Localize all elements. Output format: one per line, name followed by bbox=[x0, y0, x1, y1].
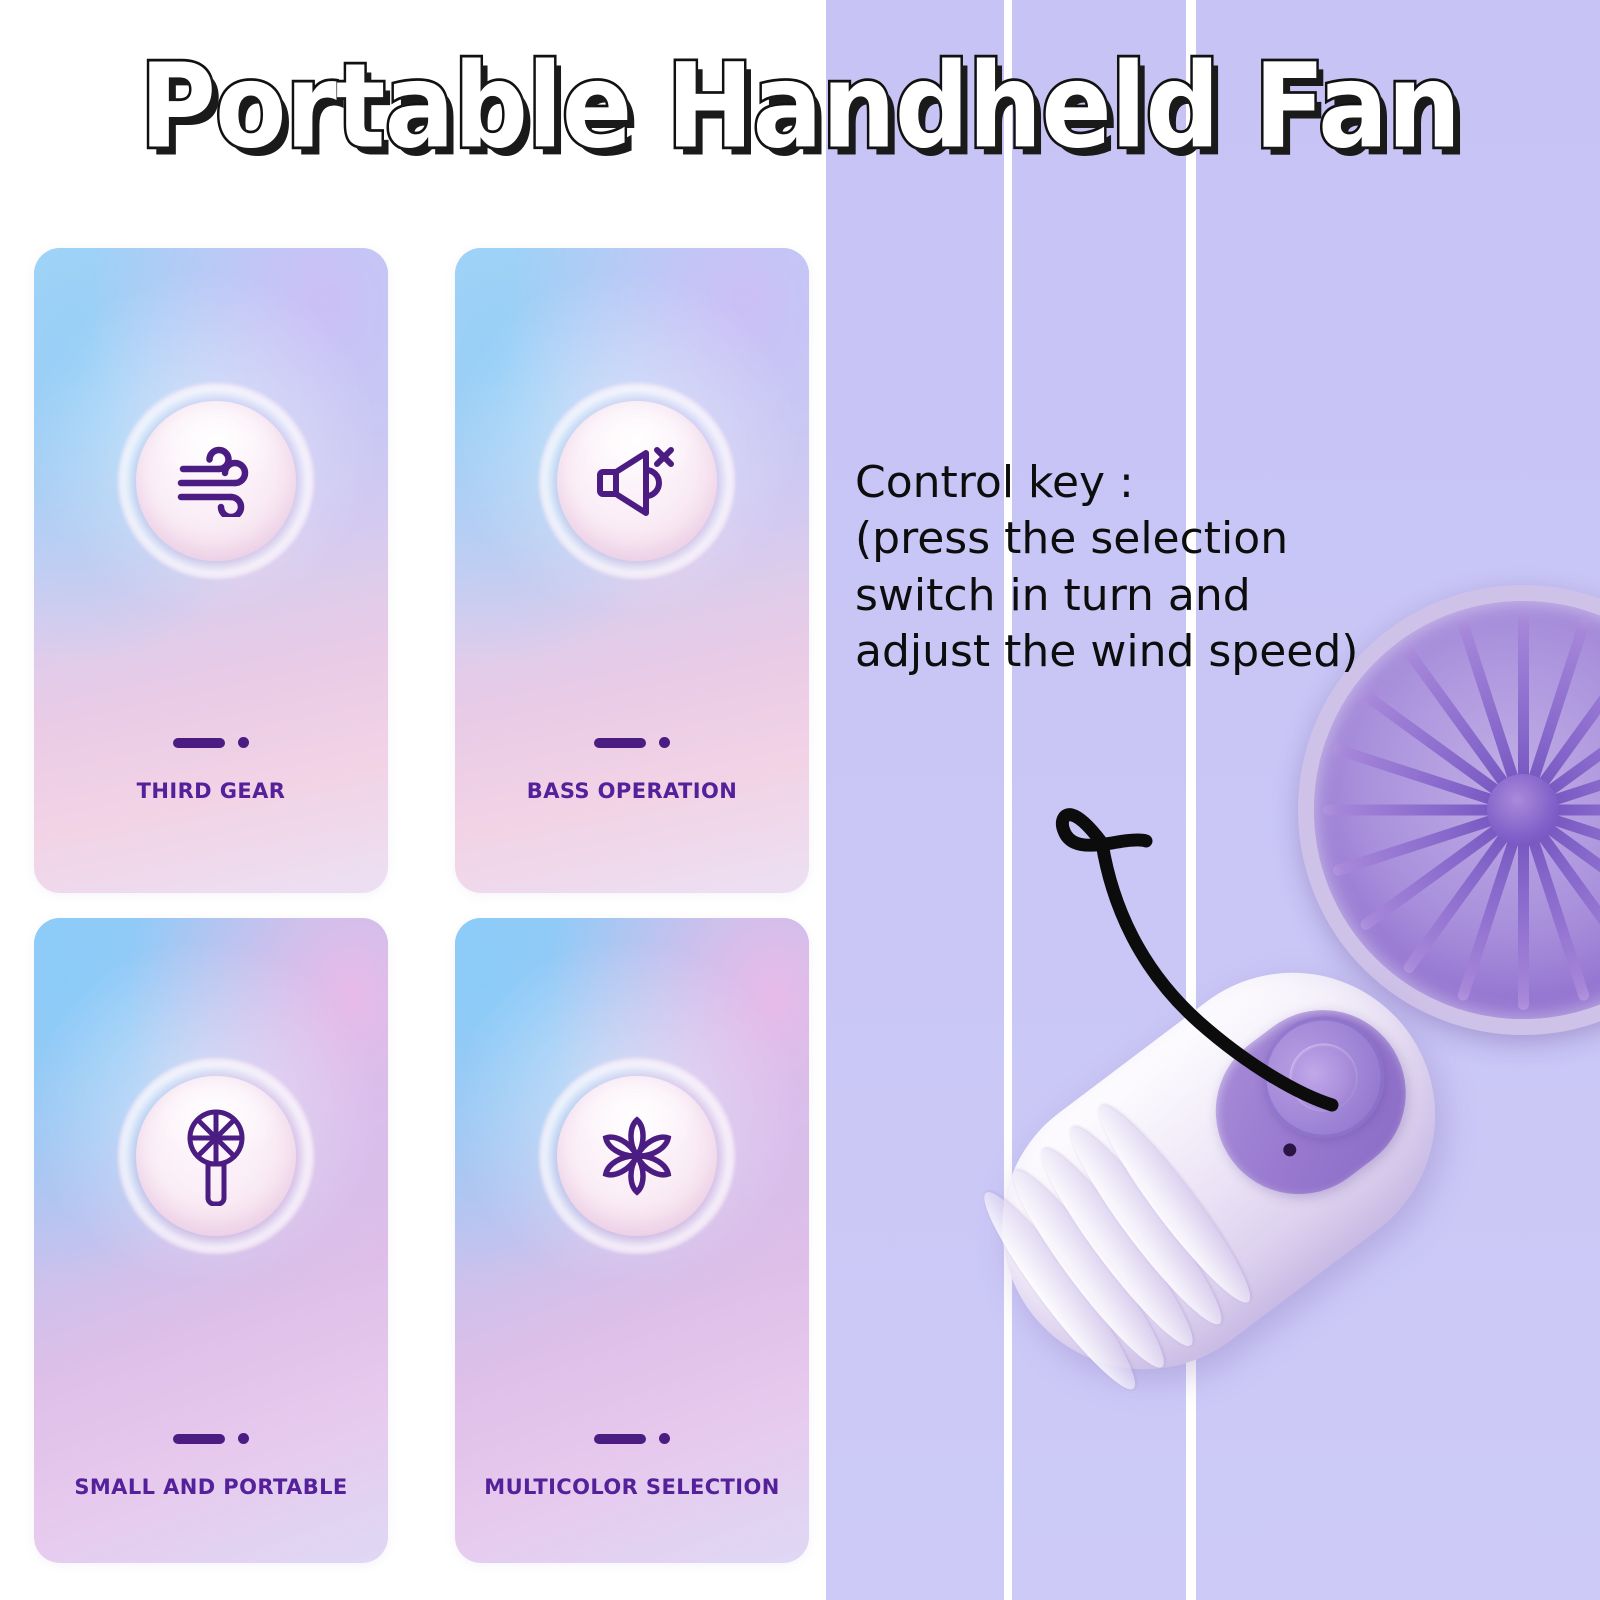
knob-face bbox=[557, 1076, 718, 1237]
feature-label-third-gear: THIRD GEAR bbox=[34, 779, 388, 803]
feature-knob-third-gear[interactable] bbox=[118, 383, 314, 579]
dash bbox=[173, 1434, 225, 1444]
dot bbox=[238, 1433, 249, 1444]
callout-line-4: adjust the wind speed) bbox=[855, 624, 1415, 680]
led-indicator bbox=[1281, 1141, 1299, 1159]
control-key-callout: Control key : (press the selection switc… bbox=[855, 455, 1415, 680]
feature-card-multicolor-selection: MULTICOLOR SELECTION bbox=[455, 918, 809, 1563]
decoration-dash-dot bbox=[594, 737, 670, 748]
callout-line-1: Control key : bbox=[855, 455, 1415, 511]
callout-line-3: switch in turn and bbox=[855, 568, 1415, 624]
feature-card-bass-operation: BASS OPERATION bbox=[455, 248, 809, 893]
feature-label-small-portable: SMALL AND PORTABLE bbox=[34, 1475, 388, 1499]
feature-knob-multicolor-selection[interactable] bbox=[539, 1058, 735, 1254]
dash bbox=[594, 1434, 646, 1444]
speaker-mute-icon bbox=[594, 442, 680, 520]
callout-line-2: (press the selection bbox=[855, 511, 1415, 567]
knob-face bbox=[136, 401, 297, 562]
feature-knob-bass-operation[interactable] bbox=[539, 383, 735, 579]
curved-arrow-icon bbox=[1020, 755, 1360, 1135]
decoration-dash-dot bbox=[173, 1433, 249, 1444]
dot bbox=[659, 737, 670, 748]
page-title: Portable Handheld Fan bbox=[140, 48, 1460, 164]
dot bbox=[659, 1433, 670, 1444]
dash bbox=[173, 738, 225, 748]
feature-knob-small-portable[interactable] bbox=[118, 1058, 314, 1254]
page-title-wrap: Portable Handheld Fan bbox=[0, 48, 1600, 152]
feature-card-small-portable: SMALL AND PORTABLE bbox=[34, 918, 388, 1563]
wind-icon bbox=[173, 445, 259, 517]
feature-label-bass-operation: BASS OPERATION bbox=[455, 779, 809, 803]
feature-card-third-gear: THIRD GEAR bbox=[34, 248, 388, 893]
knob-face bbox=[136, 1076, 297, 1237]
feature-label-multicolor-selection: MULTICOLOR SELECTION bbox=[455, 1475, 809, 1499]
dash bbox=[594, 738, 646, 748]
flower-petals-icon bbox=[591, 1110, 683, 1202]
decoration-dash-dot bbox=[594, 1433, 670, 1444]
handheld-fan-icon bbox=[180, 1106, 252, 1206]
decoration-dash-dot bbox=[173, 737, 249, 748]
dot bbox=[238, 737, 249, 748]
knob-face bbox=[557, 401, 718, 562]
